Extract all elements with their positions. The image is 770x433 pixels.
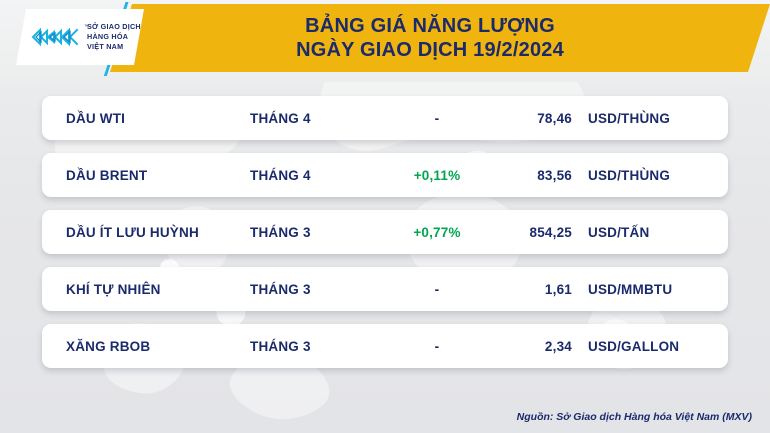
table-row[interactable]: KHÍ TỰ NHIÊN THÁNG 3 - 1,61 USD/MMBTU xyxy=(42,267,728,311)
contract-month: THÁNG 3 xyxy=(250,282,311,297)
table-row[interactable]: DẦU BRENT THÁNG 4 +0,11% 83,56 USD/THÙNG xyxy=(42,153,728,197)
price-value: 83,56 xyxy=(462,168,572,183)
commodity-name: DẦU WTI xyxy=(66,111,125,126)
commodity-name: DẦU BRENT xyxy=(66,168,147,183)
trademark-symbol: ™ xyxy=(84,24,89,30)
logo-line-2: HÀNG HÓA xyxy=(87,32,141,42)
price-unit: USD/TẤN xyxy=(588,225,649,240)
price-unit: USD/THÙNG xyxy=(588,168,670,183)
maze-chevron-logo-icon xyxy=(30,22,82,52)
contract-month: THÁNG 4 xyxy=(250,168,311,183)
contract-month: THÁNG 3 xyxy=(250,339,311,354)
page-title: BẢNG GIÁ NĂNG LƯỢNG NGÀY GIAO DỊCH 19/2/… xyxy=(150,10,710,68)
price-value: 854,25 xyxy=(462,225,572,240)
contract-month: THÁNG 4 xyxy=(250,111,311,126)
commodity-name: DẦU ÍT LƯU HUỲNH xyxy=(66,225,199,240)
table-row[interactable]: XĂNG RBOB THÁNG 3 - 2,34 USD/GALLON xyxy=(42,324,728,368)
price-unit: USD/GALLON xyxy=(588,339,679,354)
price-value: 78,46 xyxy=(462,111,572,126)
title-line-2: NGÀY GIAO DỊCH 19/2/2024 xyxy=(296,39,564,63)
price-value: 1,61 xyxy=(462,282,572,297)
price-table: DẦU WTI THÁNG 4 - 78,46 USD/THÙNG DẦU BR… xyxy=(0,96,770,381)
table-row[interactable]: DẦU ÍT LƯU HUỲNH THÁNG 3 +0,77% 854,25 U… xyxy=(42,210,728,254)
logo-line-1: SỞ GIAO DỊCH xyxy=(87,22,141,32)
table-row[interactable]: DẦU WTI THÁNG 4 - 78,46 USD/THÙNG xyxy=(42,96,728,140)
commodity-name: KHÍ TỰ NHIÊN xyxy=(66,282,161,297)
logo-text: SỞ GIAO DỊCH HÀNG HÓA VIỆT NAM xyxy=(87,22,141,52)
logo-line-3: VIỆT NAM xyxy=(87,42,141,52)
price-unit: USD/MMBTU xyxy=(588,282,672,297)
contract-month: THÁNG 3 xyxy=(250,225,311,240)
commodity-name: XĂNG RBOB xyxy=(66,339,150,354)
logo: SỞ GIAO DỊCH HÀNG HÓA VIỆT NAM ™ xyxy=(16,9,144,65)
price-unit: USD/THÙNG xyxy=(588,111,670,126)
price-value: 2,34 xyxy=(462,339,572,354)
header: BẢNG GIÁ NĂNG LƯỢNG NGÀY GIAO DỊCH 19/2/… xyxy=(0,0,770,82)
title-line-1: BẢNG GIÁ NĂNG LƯỢNG xyxy=(305,15,555,39)
price-board-page: BẢNG GIÁ NĂNG LƯỢNG NGÀY GIAO DỊCH 19/2/… xyxy=(0,0,770,433)
source-attribution: Nguồn: Sở Giao dịch Hàng hóa Việt Nam (M… xyxy=(517,411,752,423)
